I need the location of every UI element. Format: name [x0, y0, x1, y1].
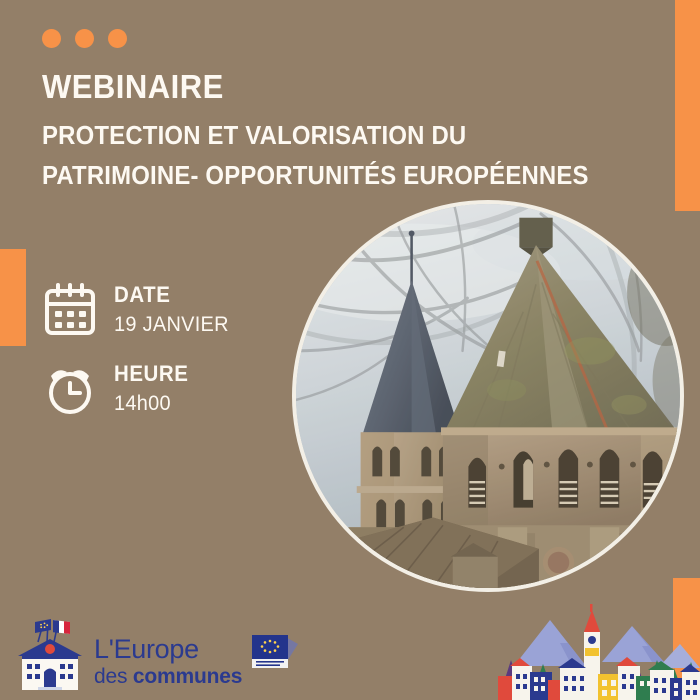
detail-row-date: DATE 19 JANVIER — [42, 282, 235, 339]
title-line-2: PATRIMOINE- OPPORTUNITÉS EUROPÉENNES — [42, 155, 612, 195]
logo-europe-des-communes: L'Europe des communes — [14, 616, 304, 692]
date-value: 19 JANVIER — [114, 311, 229, 338]
logo-line-1: L'Europe — [94, 634, 199, 664]
date-label: DATE — [114, 282, 226, 307]
accent-bar-top-right — [675, 0, 700, 211]
headline-group: WEBINAIRE PROTECTION ET VALORISATION DU … — [42, 70, 662, 196]
detail-row-time: HEURE 14h00 — [42, 361, 235, 418]
dot-icon — [42, 29, 61, 48]
calendar-icon — [42, 282, 98, 338]
eyebrow-title: WEBINAIRE — [42, 70, 625, 103]
logo-line-2-bold: communes — [133, 665, 242, 688]
abbey-church-photo — [292, 200, 684, 592]
accent-bar-left — [0, 249, 26, 346]
time-value: 14h00 — [114, 390, 190, 417]
logo-line-2: des communes — [94, 665, 242, 688]
eu-flag-badge-icon — [248, 630, 304, 674]
alarm-clock-icon — [42, 361, 98, 417]
dot-group — [42, 29, 127, 48]
detail-text-date: DATE 19 JANVIER — [114, 282, 235, 339]
event-details: DATE 19 JANVIER HEURE 14h00 — [42, 282, 235, 439]
time-label: HEURE — [114, 361, 188, 386]
dot-icon — [108, 29, 127, 48]
logo-wordmark: L'Europe des communes — [94, 636, 242, 688]
detail-text-time: HEURE 14h00 — [114, 361, 194, 418]
title-line-1: PROTECTION ET VALORISATION DU — [42, 115, 612, 155]
logo-line-2-light: des — [94, 665, 133, 688]
town-hall-with-flags-icon — [14, 616, 86, 692]
dot-icon — [75, 29, 94, 48]
poster-canvas: WEBINAIRE PROTECTION ET VALORISATION DU … — [0, 0, 700, 700]
town-skyline-illustration — [498, 596, 700, 700]
